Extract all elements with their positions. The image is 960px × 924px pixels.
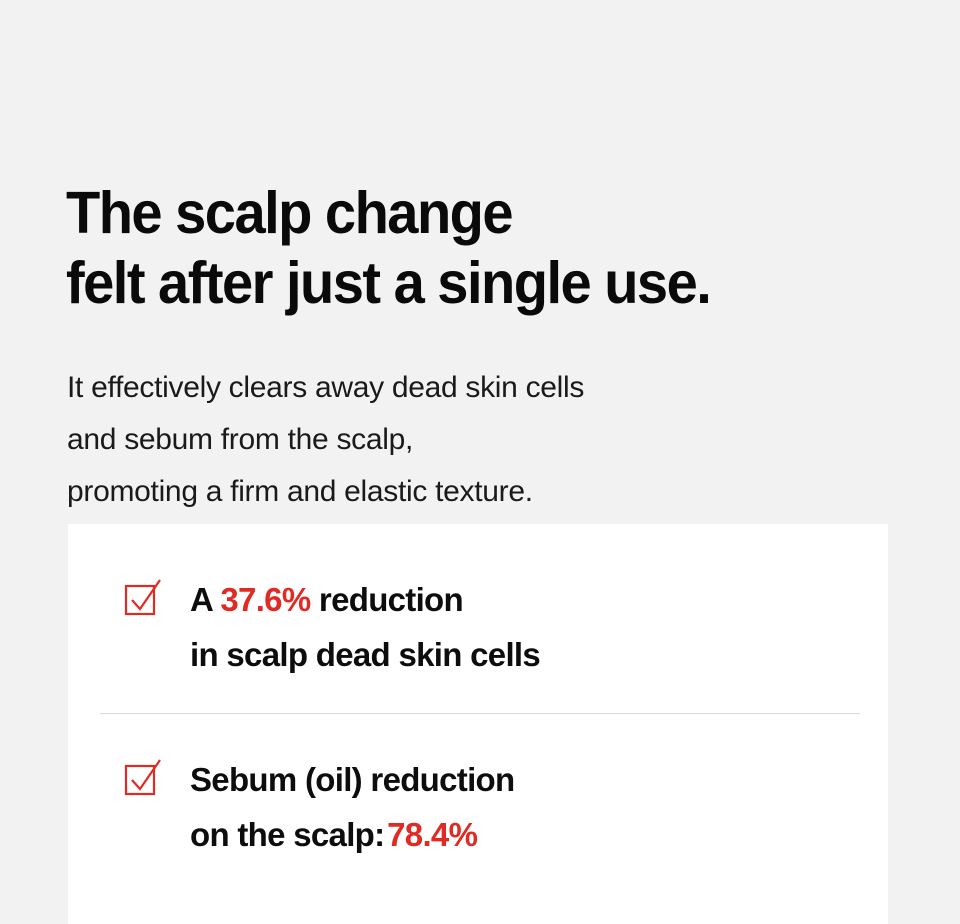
body-line-3: promoting a firm and elastic texture.	[67, 466, 867, 518]
claim-2-text: Sebum (oil) reduction on the scalp:78.4%	[190, 752, 514, 862]
claims-card: A 37.6% reduction in scalp dead skin cel…	[68, 524, 888, 924]
headline-line-2: felt after just a single use.	[66, 248, 855, 318]
body-line-1: It effectively clears away dead skin cel…	[67, 362, 867, 414]
claim-1-text: A 37.6% reduction in scalp dead skin cel…	[190, 572, 540, 682]
claim-2-line-1: Sebum (oil) reduction	[190, 752, 514, 807]
claims-divider	[100, 713, 860, 714]
claim-item-2: Sebum (oil) reduction on the scalp:78.4%	[68, 752, 888, 862]
claim-2-prefix: on the scalp	[190, 816, 374, 853]
body-line-2: and sebum from the scalp,	[67, 414, 867, 466]
claim-1-prefix: A	[190, 581, 220, 618]
claim-1-suffix: reduction	[310, 581, 463, 618]
promo-page: The scalp change felt after just a singl…	[0, 0, 960, 883]
claim-1-line-2: in scalp dead skin cells	[190, 627, 540, 682]
checked-checkbox-icon	[124, 758, 162, 796]
claim-item-1: A 37.6% reduction in scalp dead skin cel…	[68, 572, 888, 682]
body-copy: It effectively clears away dead skin cel…	[67, 362, 867, 518]
checked-checkbox-icon	[124, 578, 162, 616]
claim-2-line-2: on the scalp:78.4%	[190, 807, 514, 862]
page-title: The scalp change felt after just a singl…	[66, 178, 855, 318]
claim-1-value: 37.6%	[220, 581, 310, 618]
claim-1-line-1: A 37.6% reduction	[190, 572, 540, 627]
claim-2-value: 78.4%	[387, 816, 477, 853]
headline-line-1: The scalp change	[66, 178, 855, 248]
claim-2-separator: :	[374, 816, 387, 853]
